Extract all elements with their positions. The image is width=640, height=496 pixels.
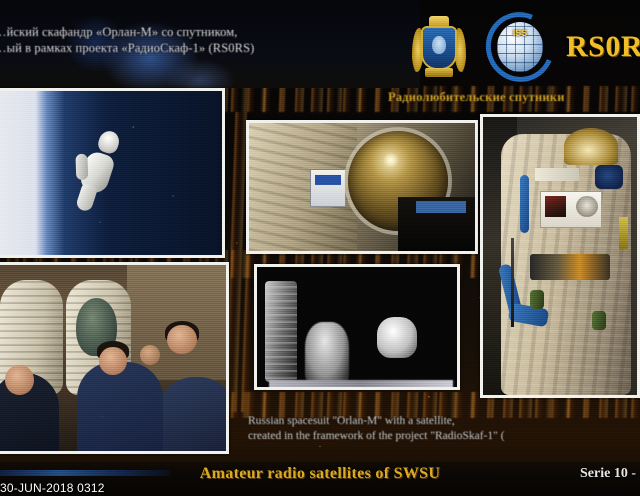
station-handrail — [269, 380, 453, 390]
yellow-tether — [619, 217, 628, 248]
photo-suit-placards — [480, 114, 640, 398]
photo-eva-release — [0, 88, 225, 258]
lab-person-right-head — [167, 325, 196, 355]
orbit-ring-icon — [475, 2, 564, 92]
commemorative-placard — [540, 191, 602, 228]
orlan-helmet-visor — [564, 128, 618, 165]
english-caption: Russian spacesuit "Orlan-M" with a satel… — [248, 414, 640, 444]
kursk-coat-of-arms-icon — [411, 16, 467, 78]
photo-suitsat-deploy-content — [257, 267, 457, 387]
english-caption-line-1: Russian spacesuit "Orlan-M" with a satel… — [248, 414, 640, 429]
suit-label-strip — [535, 168, 579, 181]
callsign-text: RS0RS — [566, 30, 640, 64]
mission-patch-icon — [595, 165, 623, 189]
photo-helmet-closeup — [246, 120, 478, 254]
lab-person-right — [158, 377, 229, 451]
header-russian-text: …йский скафандр «Орлан-М» со спутником, … — [0, 24, 394, 56]
sstv-image-frame: …йский скафандр «Орлан-М» со спутником, … — [0, 0, 640, 496]
coa-crown-icon — [429, 16, 449, 28]
photo-eva-release-content — [0, 91, 222, 255]
placard-emblem-right — [576, 196, 598, 217]
iss-emblem-label: ISS — [486, 28, 554, 38]
released-suit-satellite — [377, 317, 417, 358]
suit-chest-placard — [310, 169, 346, 207]
timestamp-overlay: 30-JUN-2018 0312 — [0, 481, 105, 495]
handrail-rod — [511, 238, 515, 327]
header-russian-line-1: …йский скафандр «Орлан-М» со спутником, — [0, 24, 394, 40]
blue-handrail — [416, 201, 466, 213]
header: …йский скафандр «Орлан-М» со спутником, … — [0, 0, 640, 88]
photo-suitsat-deploy — [254, 264, 460, 390]
cosmonaut-figure — [305, 322, 349, 384]
orlan-suit-body — [501, 134, 630, 395]
english-caption-line-2: created in the framework of the project … — [248, 429, 640, 444]
lab-person-center-head — [99, 347, 126, 375]
green-connector-right — [592, 311, 606, 329]
footer-serie-label: Serie 10 - — [580, 466, 636, 482]
lab-person-center — [77, 362, 163, 451]
suit-arm — [75, 154, 88, 180]
blue-strap-upper — [520, 175, 529, 232]
photo-lab-team-content — [0, 265, 226, 451]
photo-suit-placards-content — [483, 117, 637, 395]
suit-helmet — [96, 129, 122, 156]
timestamp-backdrop — [0, 470, 170, 476]
station-truss — [265, 281, 297, 382]
coa-bird-icon — [432, 36, 446, 54]
suit-legs — [75, 183, 98, 213]
photo-lab-team — [0, 262, 229, 454]
lab-person-left-head — [5, 365, 34, 395]
coa-base-icon — [425, 68, 453, 77]
placard-photo-left — [545, 196, 567, 217]
iss-globe-roundel-icon: ISS — [486, 12, 554, 82]
coa-wreath-right-icon — [454, 28, 466, 72]
green-connector-left — [530, 290, 544, 308]
header-russian-subtitle: Радиолюбительские спутники — [388, 90, 640, 105]
header-russian-line-2: …ый в рамках проекта «РадиоСкаф-1» (RS0R… — [0, 40, 394, 56]
photo-helmet-closeup-content — [249, 123, 475, 251]
tool-bracket — [530, 254, 610, 280]
